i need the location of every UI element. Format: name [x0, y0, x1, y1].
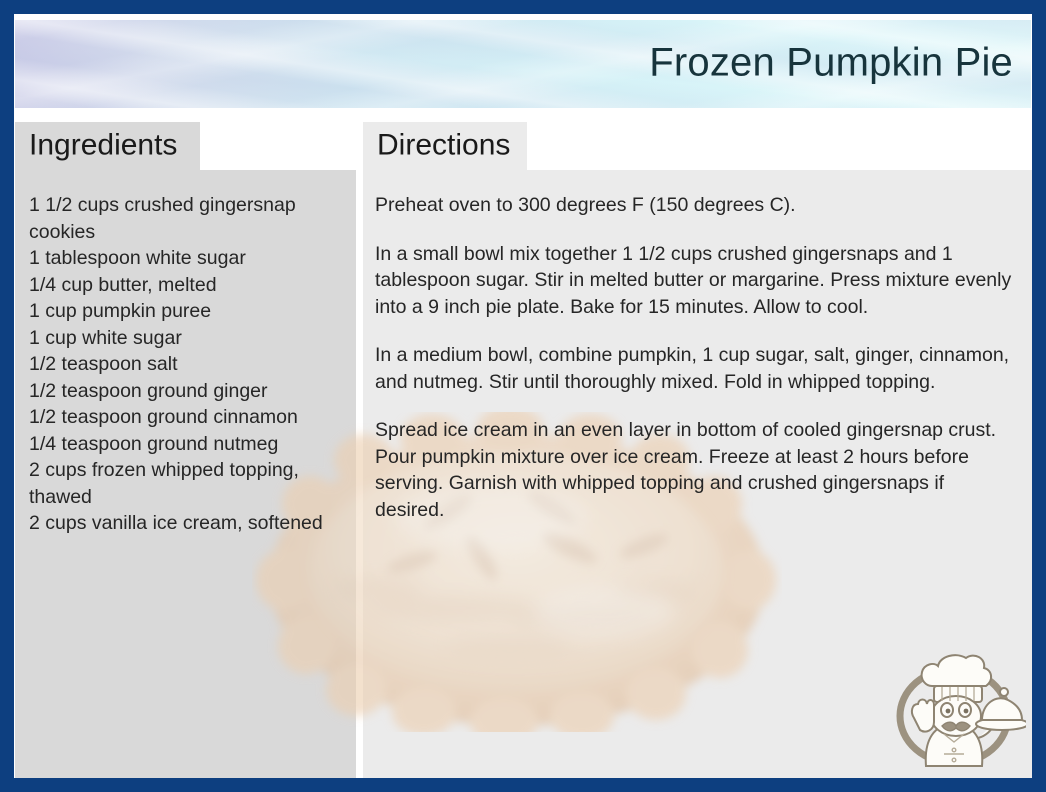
- directions-steps: Preheat oven to 300 degrees F (150 degre…: [363, 170, 1032, 535]
- direction-step: In a small bowl mix together 1 1/2 cups …: [375, 241, 1014, 321]
- recipe-card-page: Frozen Pumpkin Pie Ingredients 1 1/2 cup…: [0, 0, 1046, 792]
- list-item: 1/4 cup butter, melted: [29, 272, 340, 299]
- direction-step: In a medium bowl, combine pumpkin, 1 cup…: [375, 342, 1014, 395]
- direction-step: Preheat oven to 300 degrees F (150 degre…: [375, 192, 1014, 219]
- list-item: 1 1/2 cups crushed gingersnap cookies: [29, 192, 340, 245]
- header-banner: Frozen Pumpkin Pie: [15, 20, 1031, 108]
- frame-border-right: [1032, 0, 1046, 792]
- list-item: 1/4 teaspoon ground nutmeg: [29, 431, 340, 458]
- ingredients-list: 1 1/2 cups crushed gingersnap cookies 1 …: [15, 170, 356, 549]
- list-item: 2 cups frozen whipped topping, thawed: [29, 457, 340, 510]
- list-item: 2 cups vanilla ice cream, softened: [29, 510, 340, 537]
- frame-border-top: [0, 0, 1046, 14]
- direction-step: Spread ice cream in an even layer in bot…: [375, 417, 1014, 523]
- list-item: 1/2 teaspoon ground ginger: [29, 378, 340, 405]
- page-title: Frozen Pumpkin Pie: [649, 41, 1013, 86]
- frame-border-bottom: [0, 778, 1046, 792]
- list-item: 1/2 teaspoon salt: [29, 351, 340, 378]
- list-item: 1 cup white sugar: [29, 325, 340, 352]
- directions-heading-tab: Directions: [363, 122, 527, 170]
- card-canvas: Frozen Pumpkin Pie Ingredients 1 1/2 cup…: [14, 14, 1032, 778]
- list-item: 1 tablespoon white sugar: [29, 245, 340, 272]
- list-item: 1 cup pumpkin puree: [29, 298, 340, 325]
- directions-heading: Directions: [377, 128, 510, 162]
- ingredients-panel: 1 1/2 cups crushed gingersnap cookies 1 …: [15, 170, 356, 778]
- frame-border-left: [0, 0, 14, 792]
- directions-panel: Preheat oven to 300 degrees F (150 degre…: [363, 170, 1032, 778]
- ingredients-heading-tab: Ingredients: [15, 122, 200, 170]
- ingredients-heading: Ingredients: [29, 128, 177, 162]
- list-item: 1/2 teaspoon ground cinnamon: [29, 404, 340, 431]
